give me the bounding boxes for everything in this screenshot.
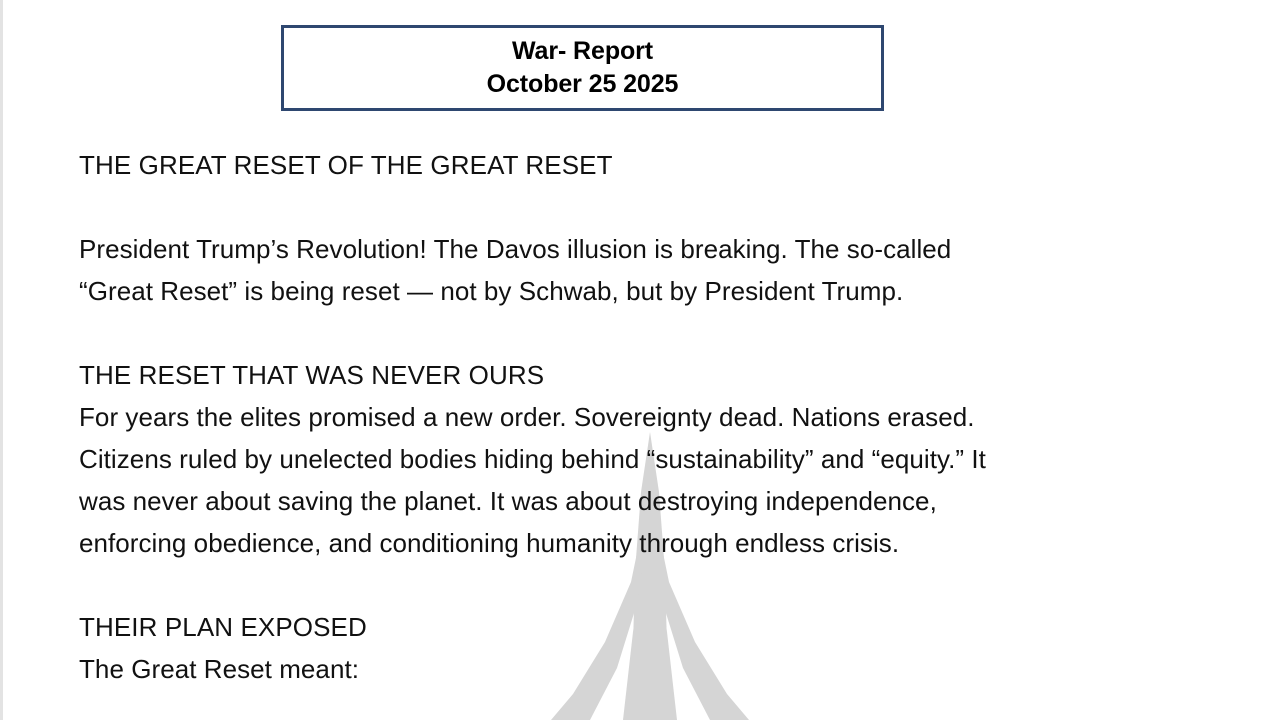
section-heading: THE GREAT RESET OF THE GREAT RESET <box>79 144 1239 186</box>
paragraph: For years the elites promised a new orde… <box>79 396 1239 564</box>
paragraph-line: President Trump’s Revolution! The Davos … <box>79 228 1239 270</box>
paragraph-line: Citizens ruled by unelected bodies hidin… <box>79 438 1239 480</box>
report-date: October 25 2025 <box>487 68 679 101</box>
section-reset-never-ours: THE RESET THAT WAS NEVER OURS For years … <box>79 354 1239 564</box>
document-body: THE GREAT RESET OF THE GREAT RESET Presi… <box>79 144 1239 690</box>
document-page: War- Report October 25 2025 THE GREAT RE… <box>0 0 1280 720</box>
section-trump-revolution: President Trump’s Revolution! The Davos … <box>79 228 1239 312</box>
paragraph-line: was never about saving the planet. It wa… <box>79 480 1239 522</box>
report-title: War- Report <box>512 35 653 68</box>
paragraph-line: enforcing obedience, and conditioning hu… <box>79 522 1239 564</box>
section-their-plan-exposed: THEIR PLAN EXPOSED The Great Reset meant… <box>79 606 1239 690</box>
paragraph-line: The Great Reset meant: <box>79 648 1239 690</box>
paragraph-line: “Great Reset” is being reset — not by Sc… <box>79 270 1239 312</box>
section-great-reset-of-the-great-reset: THE GREAT RESET OF THE GREAT RESET <box>79 144 1239 186</box>
paragraph: The Great Reset meant: <box>79 648 1239 690</box>
paragraph-spacer <box>79 564 1239 606</box>
section-heading: THE RESET THAT WAS NEVER OURS <box>79 354 1239 396</box>
report-title-box: War- Report October 25 2025 <box>281 25 884 111</box>
section-heading: THEIR PLAN EXPOSED <box>79 606 1239 648</box>
paragraph-spacer <box>79 186 1239 228</box>
paragraph-line: For years the elites promised a new orde… <box>79 396 1239 438</box>
paragraph: President Trump’s Revolution! The Davos … <box>79 228 1239 312</box>
paragraph-spacer <box>79 312 1239 354</box>
